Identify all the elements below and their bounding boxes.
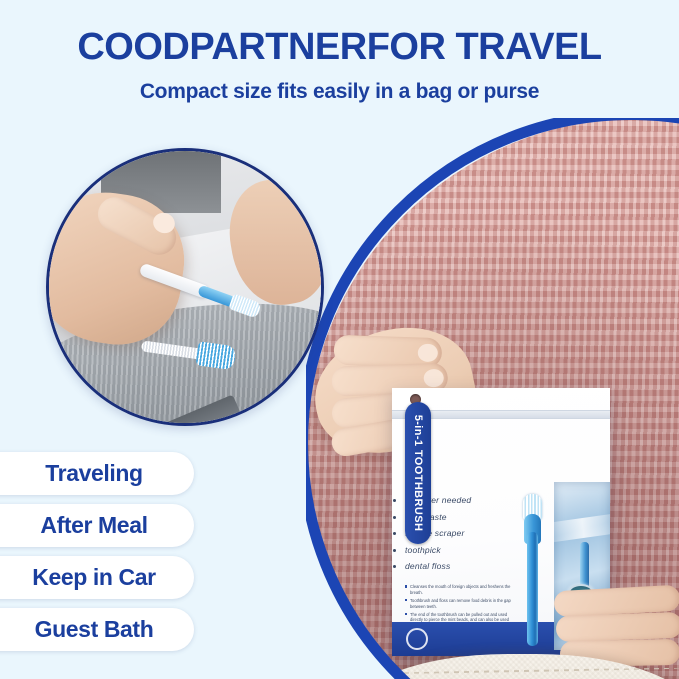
- badge-label: Traveling: [33, 460, 142, 487]
- inset-circle-photo: [46, 148, 324, 426]
- hero-photo-clip: no water needed toothpaste tongue scrape…: [306, 118, 679, 679]
- finger: [556, 612, 679, 642]
- badge-label: After Meal: [28, 512, 147, 539]
- badge-after-meal: After Meal: [0, 504, 194, 547]
- inset-brush2-handle: [141, 340, 204, 360]
- inset-brush2-head: [195, 341, 236, 370]
- page-title: COODPARTNERFOR TRAVEL: [0, 0, 679, 66]
- badge-label: Keep in Car: [20, 564, 155, 591]
- badge-keep-in-car: Keep in Car: [0, 556, 194, 599]
- badge-traveling: Traveling: [0, 452, 194, 495]
- hero-photo: no water needed toothpaste tongue scrape…: [306, 118, 679, 679]
- vertical-product-label-text: 5-in-1 TOOTHBRUSH: [412, 415, 424, 532]
- fine-print-item: Cleanses the mouth of foreign objects an…: [405, 584, 513, 596]
- vertical-product-label: 5-in-1 TOOTHBRUSH: [405, 402, 431, 544]
- fingernail: [423, 369, 444, 388]
- badge-guest-bath: Guest Bath: [0, 608, 194, 651]
- use-case-badge-list: Traveling After Meal Keep in Car Guest B…: [0, 452, 270, 660]
- page-subtitle: Compact size fits easily in a bag or pur…: [0, 66, 679, 104]
- header: COODPARTNERFOR TRAVEL Compact size fits …: [0, 0, 679, 125]
- fingernail: [418, 343, 439, 362]
- window-sheen: [554, 512, 610, 544]
- inset-brush-head: [228, 293, 262, 318]
- fine-print-item: Toothbrush and floss can remove food deb…: [405, 598, 513, 610]
- seat-slot: [94, 394, 241, 426]
- brush-handle: [527, 532, 538, 646]
- brand-circle-logo: [406, 628, 428, 650]
- feature-item: dental floss: [405, 558, 517, 575]
- feature-item: toothpick: [405, 542, 517, 559]
- purse-stitching: [364, 667, 679, 675]
- badge-label: Guest Bath: [23, 616, 154, 643]
- toothbrush-illustration: [520, 488, 544, 646]
